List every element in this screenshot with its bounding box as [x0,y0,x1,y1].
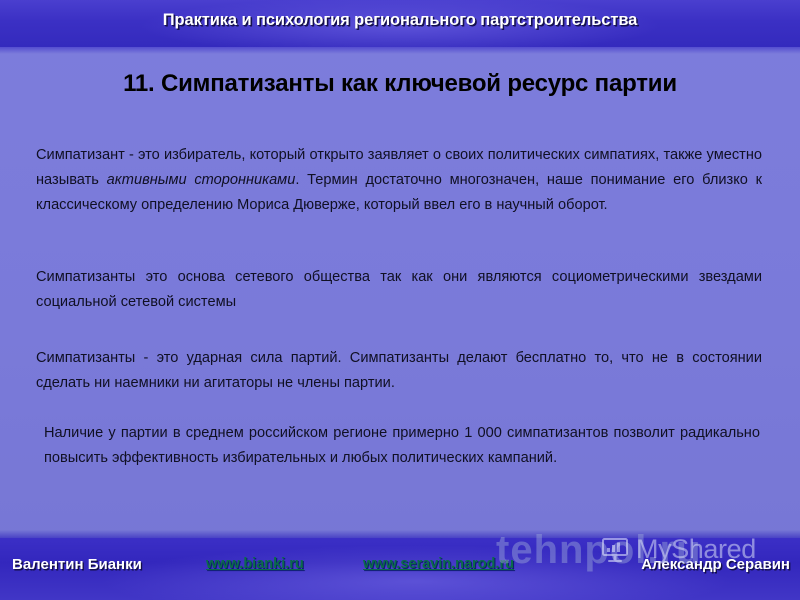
paragraph-4-text: Наличие у партии в среднем российском ре… [44,425,760,466]
footer-author-right: Александр Серавин [641,556,790,573]
slide-canvas: Практика и психология регионального парт… [0,0,800,600]
footer-link-seravin[interactable]: www.seravin.narod.ru [363,556,514,572]
paragraph-3: Симпатизанты - это ударная сила партий. … [36,346,762,396]
paragraph-4: Наличие у партии в среднем российском ре… [44,421,760,471]
banner-shadow-fade [0,47,800,54]
paragraph-1: Симпатизант - это избиратель, который от… [36,143,762,218]
slide-header-banner: Практика и психология регионального парт… [0,0,800,47]
slide-title: 11. Симпатизанты как ключевой ресурс пар… [0,70,800,98]
paragraph-2: Симпатизанты это основа сетевого обществ… [36,265,762,315]
presentation-title: Практика и психология регионального парт… [0,11,800,30]
footer-link-bianki[interactable]: www.bianki.ru [206,556,304,572]
paragraph-2-text: Симпатизанты это основа сетевого обществ… [36,269,762,310]
footer-author-left: Валентин Бианки [12,556,142,573]
slide-footer: Валентин Бианки www.bianki.ru www.seravi… [0,538,800,600]
paragraph-3-text: Симпатизанты - это ударная сила партий. … [36,350,762,391]
paragraph-1-emphasis: активными сторонниками [107,172,296,188]
